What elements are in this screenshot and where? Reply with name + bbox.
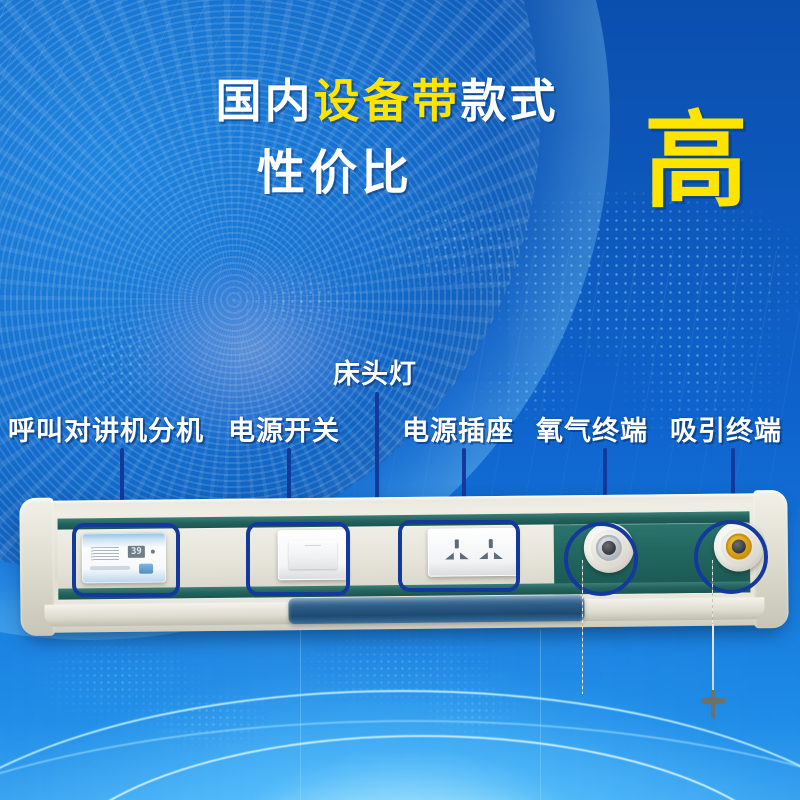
callout-label-power-switch: 电源开关 xyxy=(228,418,340,445)
callout-label-oxygen-terminal: 氧气终端 xyxy=(536,418,648,445)
callout-label-bed-head-lamp: 床头灯 xyxy=(333,361,417,388)
horizon-glow xyxy=(130,700,690,800)
suction-port-lanyard xyxy=(712,560,713,630)
hanging-cord xyxy=(712,624,714,698)
callout-label-power-socket: 电源插座 xyxy=(402,418,514,445)
headline-big-word: 高 xyxy=(644,110,748,214)
cord-cross-fitting-icon xyxy=(701,690,725,718)
world-map-silhouette xyxy=(0,630,800,780)
highlight-box-nurse-call-intercom xyxy=(72,523,180,597)
highlight-box-power-socket xyxy=(398,520,520,592)
oxygen-port-lanyard xyxy=(582,560,583,694)
product-banner: 国内设备带款式 性价比 高 呼叫对讲机分机 电源开关 床头灯 电源插座 氧气终端… xyxy=(0,0,800,800)
horizon-arc-outer xyxy=(0,720,800,800)
headline-part-2: 款式 xyxy=(461,75,559,127)
highlight-circle-oxygen-terminal xyxy=(564,522,638,596)
highlight-box-power-switch xyxy=(246,522,350,596)
headline-part-1: 国内 xyxy=(216,75,314,127)
vertical-guide-line xyxy=(540,630,541,800)
horizon-arc-mid xyxy=(0,690,800,800)
highlight-circle-suction-terminal xyxy=(694,520,768,594)
headline-block: 国内设备带款式 性价比 高 xyxy=(0,78,800,198)
panel-rail-cover xyxy=(288,595,584,624)
headline-accent: 设备带 xyxy=(314,75,461,127)
callout-label-suction-terminal: 吸引终端 xyxy=(670,418,782,445)
horizon-arc-inner xyxy=(40,735,800,800)
vertical-guide-line xyxy=(300,630,301,800)
callout-label-nurse-call-intercom: 呼叫对讲机分机 xyxy=(8,418,204,445)
